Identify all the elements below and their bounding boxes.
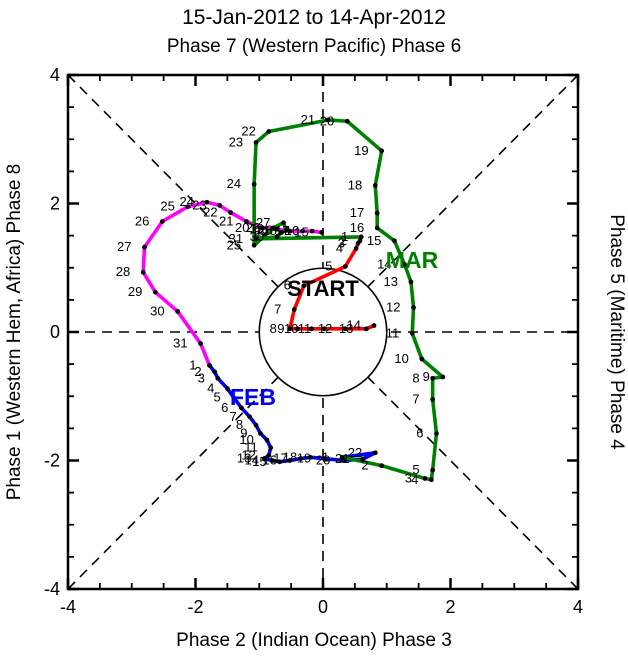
- point-label: 27: [117, 239, 131, 254]
- data-point-marker: [217, 203, 222, 208]
- point-label: 31: [173, 336, 187, 351]
- point-label: 21: [219, 213, 233, 228]
- data-point-marker: [215, 376, 220, 381]
- point-label: 20: [320, 113, 334, 128]
- point-label: 8: [412, 370, 419, 385]
- data-point-marker: [254, 140, 259, 145]
- x-tick-label: 4: [573, 597, 583, 617]
- x-tick-label: 2: [445, 597, 455, 617]
- point-label: 8: [270, 321, 277, 336]
- point-label: 7: [274, 302, 281, 317]
- point-label: 7: [412, 391, 419, 406]
- point-label: 30: [250, 229, 264, 244]
- point-label: 19: [354, 143, 368, 158]
- data-point-marker: [372, 323, 377, 328]
- point-label: 11: [386, 325, 400, 340]
- data-point-marker: [419, 357, 424, 362]
- data-point-marker: [430, 397, 435, 402]
- data-point-marker: [247, 414, 252, 419]
- data-point-marker: [319, 230, 324, 235]
- bottom-axis-label: Phase 2 (Indian Ocean) Phase 3: [176, 630, 452, 651]
- y-tick-label: -2: [44, 451, 60, 471]
- point-label: 2: [361, 458, 368, 473]
- point-label: 28: [116, 264, 130, 279]
- point-label: 26: [135, 213, 149, 228]
- data-point-marker: [429, 477, 434, 482]
- data-point-marker: [343, 264, 348, 269]
- data-point-marker: [142, 245, 147, 250]
- point-label: 14: [347, 318, 361, 333]
- left-axis-label: Phase 1 (Western Hem, Africa) Phase 8: [4, 164, 25, 501]
- point-label: 1: [322, 449, 329, 464]
- data-point-marker: [356, 241, 361, 246]
- y-tick-label: 0: [50, 322, 60, 342]
- data-point-marker: [373, 450, 378, 455]
- point-label: 22: [348, 445, 362, 460]
- data-point-marker: [258, 431, 263, 436]
- data-point-marker: [392, 238, 397, 243]
- point-label: 22: [241, 124, 255, 139]
- data-point-marker: [141, 270, 146, 275]
- point-label: 10: [394, 351, 408, 366]
- x-tick-label: -4: [60, 597, 76, 617]
- point-label: 9: [423, 369, 430, 384]
- data-point-marker: [175, 309, 180, 314]
- data-point-marker: [292, 307, 297, 312]
- data-point-marker: [268, 445, 273, 450]
- point-label: 31: [229, 231, 243, 246]
- right-axis-label: Phase 5 (Maritime) Phase 4: [606, 214, 627, 450]
- y-tick-label: 2: [50, 194, 60, 214]
- data-point-marker: [265, 438, 270, 443]
- point-label: 12: [318, 321, 332, 336]
- point-label: 17: [275, 223, 289, 238]
- point-label: 18: [348, 178, 362, 193]
- top-axis-label: Phase 7 (Western Pacific) Phase 6: [167, 36, 461, 57]
- page-title: 15-Jan-2012 to 14-Apr-2012: [182, 6, 446, 29]
- data-point-marker: [440, 375, 445, 380]
- data-point-marker: [310, 229, 315, 234]
- phase-diagram-svg: 15-Jan-2012 to 14-Apr-2012 Phase 7 (West…: [0, 0, 628, 656]
- data-point-marker: [434, 431, 439, 436]
- data-point-marker: [430, 468, 435, 473]
- point-label: 5: [325, 258, 332, 273]
- data-point-marker: [153, 290, 158, 295]
- point-label: 16: [350, 220, 364, 235]
- point-label: 18: [283, 449, 297, 464]
- point-label: 23: [229, 134, 243, 149]
- point-label: 12: [386, 300, 400, 315]
- x-tick-label: 0: [318, 597, 328, 617]
- y-tick-label: -4: [44, 579, 60, 599]
- point-label: 17: [350, 205, 364, 220]
- point-label: 24: [227, 176, 241, 191]
- point-label: 10: [284, 321, 298, 336]
- point-label: 6: [221, 400, 228, 415]
- point-label: 29: [128, 284, 142, 299]
- data-point-marker: [198, 341, 203, 346]
- data-point-marker: [375, 226, 380, 231]
- data-point-marker: [345, 119, 350, 124]
- data-point-marker: [364, 326, 369, 331]
- y-tick-label: 4: [50, 65, 60, 85]
- point-label: 30: [150, 303, 164, 318]
- point-label: 6: [416, 426, 423, 441]
- data-point-marker: [375, 211, 380, 216]
- start-label: START: [287, 276, 359, 301]
- point-label: 21: [301, 112, 315, 127]
- month-label-mar: MAR: [386, 247, 439, 273]
- data-point-marker: [411, 305, 416, 310]
- point-label: 11: [298, 321, 312, 336]
- point-label: 3: [198, 370, 205, 385]
- data-point-marker: [354, 246, 359, 251]
- data-point-marker: [379, 463, 384, 468]
- data-point-marker: [430, 376, 435, 381]
- point-label: 4: [336, 240, 343, 255]
- point-label: 24: [180, 194, 194, 209]
- month-label-feb: FEB: [230, 384, 276, 410]
- point-label: 19: [297, 451, 311, 466]
- point-label: 23: [192, 197, 206, 212]
- data-point-marker: [212, 369, 217, 374]
- point-label: 15: [367, 233, 381, 248]
- point-label: 13: [384, 274, 398, 289]
- x-tick-label: -2: [187, 597, 203, 617]
- data-point-marker: [266, 129, 271, 134]
- data-point-marker: [254, 423, 259, 428]
- point-label: 25: [160, 199, 174, 214]
- data-point-marker: [160, 219, 165, 224]
- data-point-marker: [410, 331, 415, 336]
- data-point-marker: [379, 148, 384, 153]
- data-point-marker: [207, 363, 212, 368]
- data-point-marker: [252, 182, 257, 187]
- data-point-marker: [409, 279, 414, 284]
- data-point-marker: [373, 183, 378, 188]
- data-point-marker: [423, 476, 428, 481]
- point-label: 5: [412, 462, 419, 477]
- point-label: 5: [214, 390, 221, 405]
- mjo-phase-diagram: 15-Jan-2012 to 14-Apr-2012 Phase 7 (West…: [0, 0, 628, 656]
